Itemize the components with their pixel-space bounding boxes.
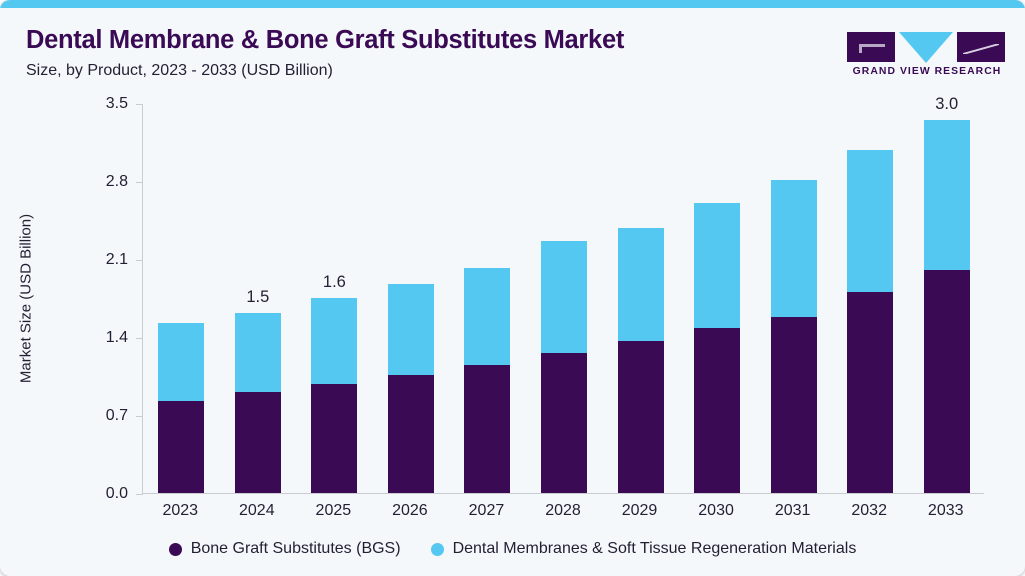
y-axis-tick-label: 0.7 (82, 407, 128, 425)
bar-segment-dental-membranes[interactable] (771, 180, 817, 317)
x-axis-tick-label: 2031 (754, 502, 831, 520)
bar-group[interactable] (464, 268, 510, 493)
chart-card: Dental Membrane & Bone Graft Substitutes… (0, 0, 1025, 576)
bar-group[interactable] (847, 150, 893, 493)
bar-segment-bgs[interactable] (464, 365, 510, 493)
bar-group[interactable] (771, 180, 817, 493)
stacked-bar-chart: Market Size (USD Billion) 0.00.71.42.12.… (0, 0, 1025, 576)
bar-segment-bgs[interactable] (541, 353, 587, 493)
chart-legend: Bone Graft Substitutes (BGS)Dental Membr… (0, 534, 1025, 564)
x-axis-tick-label: 2030 (678, 502, 755, 520)
bar-segment-bgs[interactable] (771, 317, 817, 493)
bar-segment-bgs[interactable] (847, 292, 893, 493)
x-axis-tick-label: 2027 (448, 502, 525, 520)
bar-value-label: 1.6 (323, 273, 346, 292)
x-axis-tick-label: 2025 (295, 502, 372, 520)
bar-segment-dental-membranes[interactable] (924, 120, 970, 270)
bar-group[interactable]: 1.6 (311, 298, 357, 493)
bar-group[interactable] (158, 323, 204, 493)
bar-group[interactable] (618, 228, 664, 493)
bar-value-label: 1.5 (246, 288, 269, 307)
bar-segment-dental-membranes[interactable] (311, 298, 357, 384)
bar-segment-bgs[interactable] (158, 401, 204, 493)
x-axis-tick-label: 2029 (601, 502, 678, 520)
bar-segment-dental-membranes[interactable] (464, 268, 510, 365)
bar-segment-dental-membranes[interactable] (235, 313, 281, 392)
bar-group[interactable]: 3.0 (924, 120, 970, 493)
legend-swatch-icon (169, 543, 182, 556)
bar-segment-dental-membranes[interactable] (541, 241, 587, 352)
legend-item[interactable]: Bone Graft Substitutes (BGS) (169, 540, 401, 558)
bar-segment-dental-membranes[interactable] (618, 228, 664, 342)
y-axis-tick-label: 0.0 (82, 485, 128, 503)
bar-segment-bgs[interactable] (694, 328, 740, 493)
bar-segment-dental-membranes[interactable] (388, 284, 434, 375)
y-axis-tick-label: 3.5 (82, 95, 128, 113)
x-axis-tick-label: 2024 (219, 502, 296, 520)
bar-segment-bgs[interactable] (388, 375, 434, 493)
y-axis-title: Market Size (USD Billion) (18, 169, 35, 429)
x-axis-tick-label: 2028 (525, 502, 602, 520)
bar-group[interactable]: 1.5 (235, 313, 281, 494)
x-axis-tick-label: 2033 (907, 502, 984, 520)
bar-segment-dental-membranes[interactable] (158, 323, 204, 401)
bar-group[interactable] (541, 241, 587, 493)
x-axis-tick-label: 2032 (831, 502, 908, 520)
legend-swatch-icon (431, 543, 444, 556)
legend-item[interactable]: Dental Membranes & Soft Tissue Regenerat… (431, 540, 857, 558)
bar-group[interactable] (388, 284, 434, 493)
y-axis-tick-label: 1.4 (82, 329, 128, 347)
plot-area: 1.51.63.0 (142, 104, 984, 494)
legend-label: Bone Graft Substitutes (BGS) (191, 540, 401, 558)
y-axis-tick-label: 2.8 (82, 173, 128, 191)
x-axis-tick-label: 2026 (372, 502, 449, 520)
bar-value-label: 3.0 (935, 95, 958, 114)
bar-group[interactable] (694, 203, 740, 493)
legend-label: Dental Membranes & Soft Tissue Regenerat… (453, 540, 857, 558)
y-axis-tick-mark (136, 494, 143, 495)
x-axis-tick-label: 2023 (142, 502, 219, 520)
bar-segment-dental-membranes[interactable] (847, 150, 893, 293)
y-axis-tick-label: 2.1 (82, 251, 128, 269)
bar-segment-dental-membranes[interactable] (694, 203, 740, 328)
bar-segment-bgs[interactable] (235, 392, 281, 493)
bar-segment-bgs[interactable] (924, 270, 970, 493)
bar-segment-bgs[interactable] (618, 341, 664, 493)
bar-segment-bgs[interactable] (311, 384, 357, 493)
